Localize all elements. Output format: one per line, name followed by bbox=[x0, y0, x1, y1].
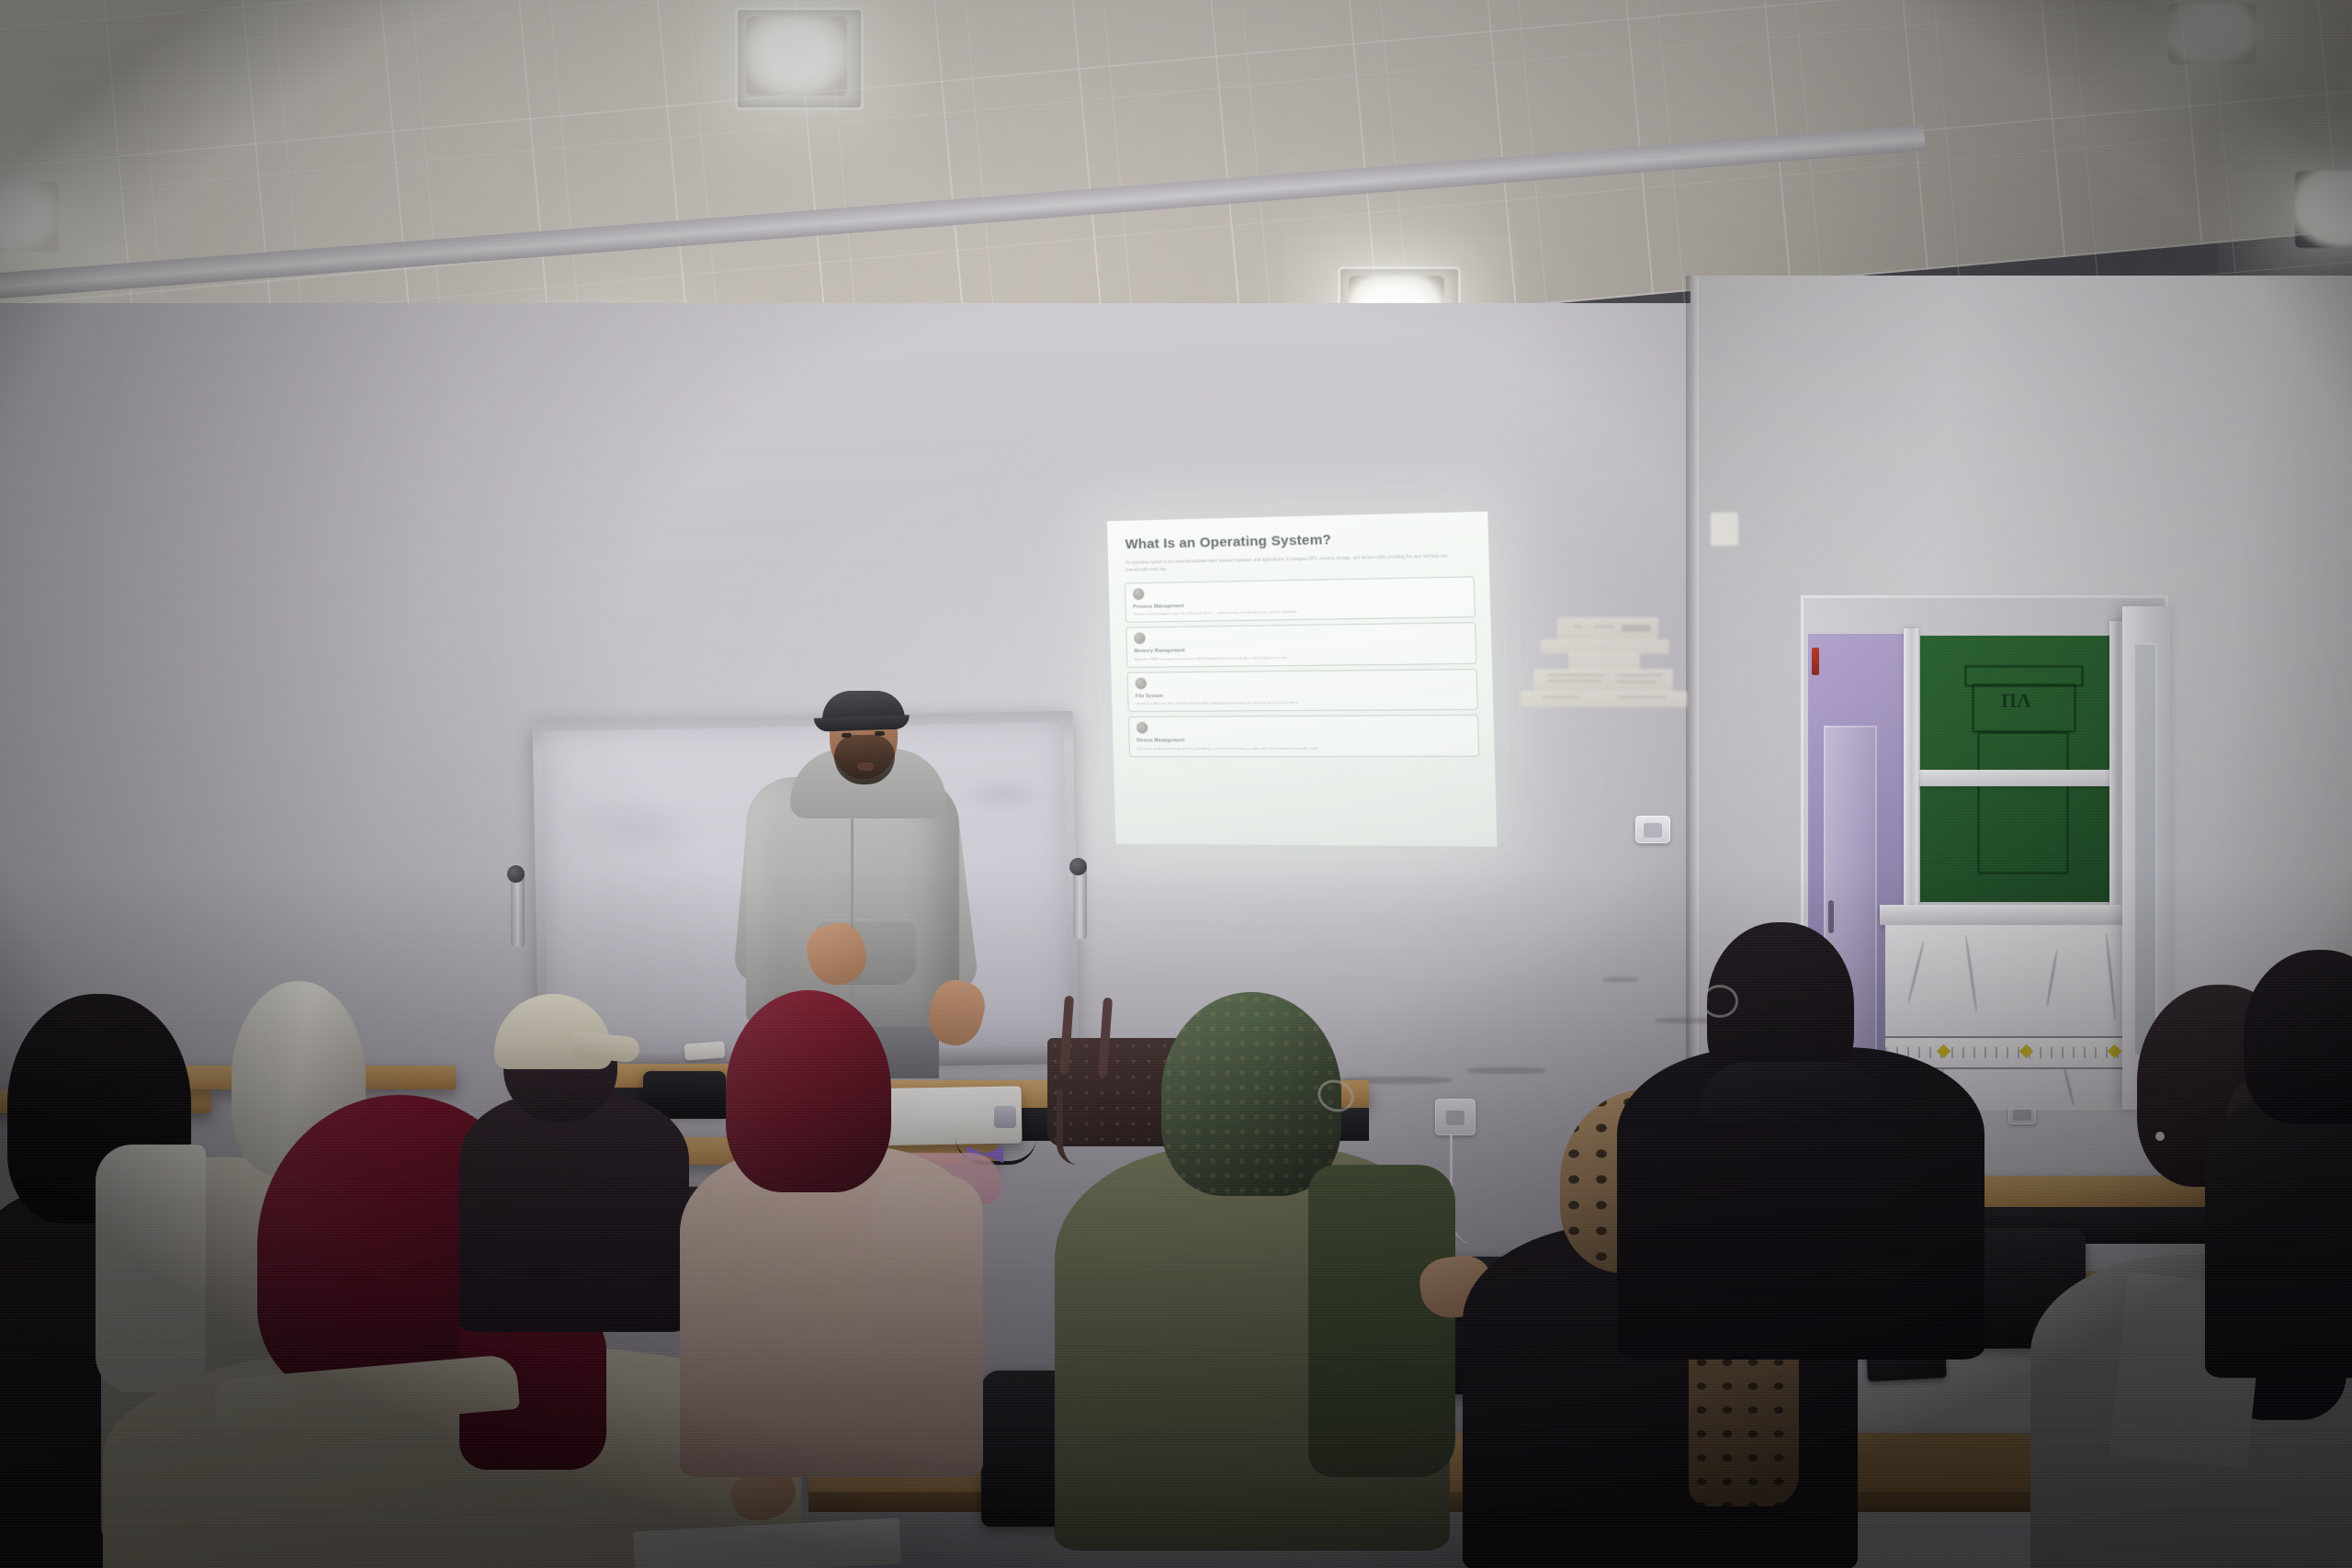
presenter-beard bbox=[834, 735, 895, 784]
projector-lens-icon bbox=[994, 1106, 1016, 1128]
presenter-mouth bbox=[857, 762, 874, 771]
window-frame-left bbox=[1904, 628, 1918, 913]
circle-bullet-icon bbox=[1133, 588, 1145, 600]
eyeglasses-icon bbox=[1702, 985, 1738, 1018]
green-door-opposite: ПΛ bbox=[1920, 636, 2113, 902]
whiteboard-knob-right[interactable] bbox=[1069, 858, 1087, 875]
wall-scuff-5 bbox=[1602, 977, 1639, 982]
hood-collar bbox=[1700, 1062, 1883, 1124]
earring-icon bbox=[2155, 1132, 2165, 1141]
slide-card-body: Allocates RAM to programs and uses virtu… bbox=[1135, 653, 1469, 662]
corridor-door-handle[interactable] bbox=[1828, 900, 1834, 933]
slide-card-body: Operates hardware through drivers, provi… bbox=[1136, 745, 1471, 751]
hijab-drape bbox=[96, 1145, 206, 1393]
marble-vein bbox=[2045, 949, 2058, 1008]
circle-bullet-icon bbox=[1135, 677, 1147, 689]
student-body bbox=[2205, 1084, 2352, 1378]
ceiling-light-5 bbox=[2295, 171, 2352, 248]
window-sill bbox=[1880, 905, 2146, 925]
green-door-marking: ПΛ bbox=[2001, 689, 2031, 713]
marble-vein bbox=[2062, 1063, 2075, 1106]
wall-socket-front[interactable] bbox=[1435, 1099, 1476, 1135]
marble-vein bbox=[2105, 932, 2117, 1021]
student-hijab bbox=[726, 990, 891, 1192]
projected-slide: What Is an Operating System? An operatin… bbox=[1107, 512, 1498, 847]
slide-card-title: File System bbox=[1136, 691, 1470, 699]
whiteboard-leg-right bbox=[1073, 865, 1087, 939]
slide-card-memory-management: Memory Management Allocates RAM to progr… bbox=[1125, 623, 1476, 668]
wall-scuff-2 bbox=[1466, 1067, 1545, 1074]
green-door-panel-low bbox=[1977, 731, 2069, 874]
window-sash-horizontal bbox=[1913, 770, 2124, 786]
slide-subtitle: An operating system is the essential sof… bbox=[1125, 552, 1462, 575]
marble-vein bbox=[1907, 941, 1926, 1004]
hijab-drape bbox=[873, 1176, 983, 1387]
handbag-hanging-strap bbox=[1057, 1089, 1078, 1165]
whiteboard-leg-left bbox=[511, 873, 525, 946]
wall-socket-left[interactable] bbox=[1635, 816, 1670, 843]
presenter-eye-right bbox=[875, 731, 885, 736]
slide-card-title: Device Management bbox=[1136, 738, 1471, 744]
presenter-eye-left bbox=[842, 733, 852, 738]
marble-vein bbox=[1964, 934, 1978, 1013]
whiteboard-knob-left[interactable] bbox=[507, 865, 525, 883]
hijab-tail bbox=[1308, 1165, 1455, 1477]
chair-left-back[interactable] bbox=[643, 1071, 726, 1111]
marker-icon[interactable] bbox=[684, 1041, 725, 1060]
ceiling-light-4 bbox=[0, 182, 59, 252]
circle-bullet-icon bbox=[1136, 722, 1148, 734]
hijab-pattern bbox=[1161, 992, 1341, 1196]
slide-title: What Is an Operating System? bbox=[1125, 528, 1474, 553]
door-leaf-glass bbox=[2133, 643, 2157, 1056]
ceiling-light-6 bbox=[2168, 4, 2256, 64]
student-body bbox=[459, 1093, 689, 1332]
slide-card-body: Organizes data into files and directorie… bbox=[1136, 699, 1470, 706]
circle-bullet-icon bbox=[1134, 633, 1146, 645]
red-marker-strip bbox=[1812, 648, 1819, 675]
slide-card-process-management: Process Management Decides which program… bbox=[1125, 576, 1476, 623]
slide-card-device-management: Device Management Operates hardware thro… bbox=[1128, 715, 1479, 757]
wall-notice bbox=[1711, 513, 1738, 546]
ceiling-light-frame-1 bbox=[735, 7, 864, 110]
classroom-photo: What Is an Operating System? An operatin… bbox=[0, 0, 2352, 1568]
slide-card-file-system: File System Organizes data into files an… bbox=[1127, 669, 1478, 712]
